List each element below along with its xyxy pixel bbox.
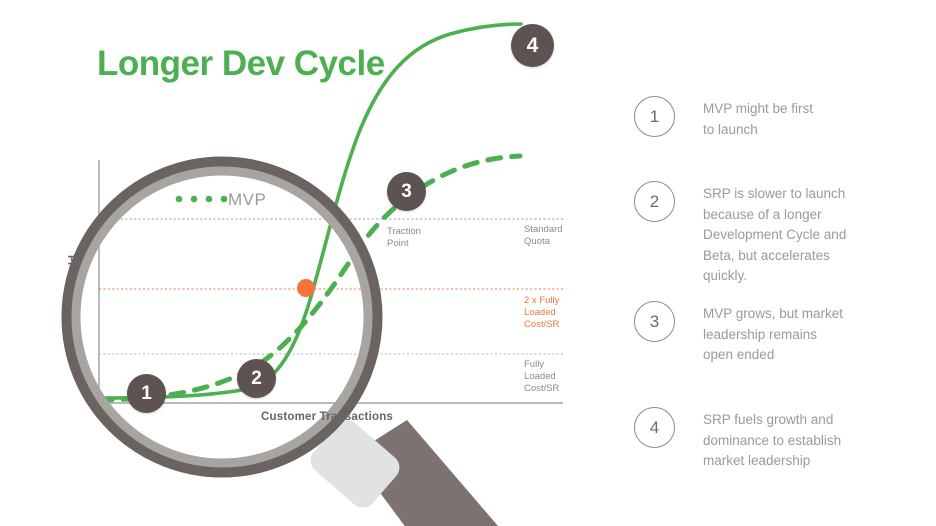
- mvp-series-label: MVP: [228, 190, 266, 210]
- magnifier-rim-outer: [67, 162, 377, 472]
- chart-marker-1[interactable]: 1: [127, 374, 166, 413]
- legend-number-2: 2: [634, 181, 675, 222]
- series-srp-curve: [99, 24, 521, 398]
- legend-text-2: SRP is slower to launch because of a lon…: [703, 181, 846, 287]
- chart-marker-3[interactable]: 3: [387, 172, 426, 211]
- list-item[interactable]: 3 MVP grows, but market leadership remai…: [634, 301, 843, 366]
- chart-plot: [0, 0, 620, 526]
- fully-loaded-cost-label: Fully Loaded Cost/SR: [524, 359, 559, 395]
- legend-text-4: SRP fuels growth and dominance to establ…: [703, 407, 841, 472]
- list-item[interactable]: 4 SRP fuels growth and dominance to esta…: [634, 407, 841, 472]
- legend-number-1: 1: [634, 96, 675, 137]
- chart-marker-4[interactable]: 4: [511, 24, 554, 67]
- traction-point-label: Traction Point: [387, 226, 421, 250]
- highlight-point: [297, 279, 315, 297]
- list-item[interactable]: 2 SRP is slower to launch because of a l…: [634, 181, 846, 287]
- legend-text-3: MVP grows, but market leadership remains…: [703, 301, 843, 366]
- y-axis-label: Yield: [68, 255, 80, 282]
- x-axis-label: Customer Transactions: [261, 411, 393, 423]
- list-item[interactable]: 1 MVP might be first to launch: [634, 96, 813, 140]
- legend-number-4: 4: [634, 407, 675, 448]
- standard-quota-label: Standard Quota: [524, 224, 563, 248]
- legend-number-3: 3: [634, 301, 675, 342]
- legend-text-1: MVP might be first to launch: [703, 96, 813, 140]
- slide-canvas: Longer Dev Cycle: [0, 0, 936, 526]
- magnifier: [67, 162, 510, 526]
- chart-marker-2[interactable]: 2: [237, 359, 276, 398]
- mvp-legend-swatch: [176, 196, 228, 203]
- two-x-fully-loaded-cost-label: 2 x Fully Loaded Cost/SR: [524, 295, 559, 331]
- chart-container: MVP Traction Point Standard Quota 2 x Fu…: [0, 0, 620, 526]
